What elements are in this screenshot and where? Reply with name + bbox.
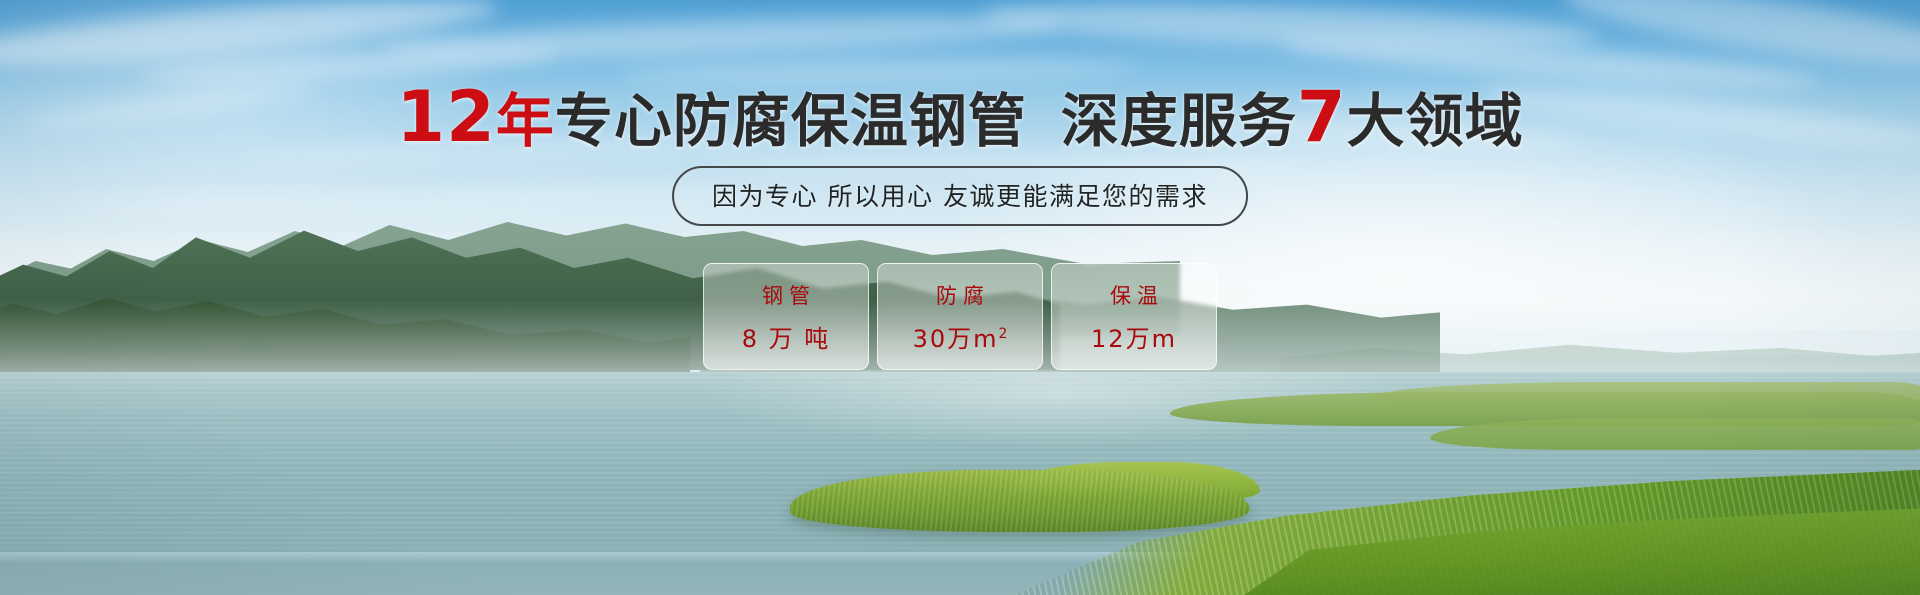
- stat-value: 12万m: [1091, 319, 1177, 354]
- headline: 12年专心防腐保温钢管深度服务7大领域: [0, 80, 1920, 156]
- headline-service-text: 深度服务: [1061, 87, 1297, 155]
- stat-label: 钢管: [756, 280, 816, 310]
- stat-card-steel-pipe: 钢管 8 万 吨: [703, 263, 869, 370]
- banner-content: 12年专心防腐保温钢管深度服务7大领域 因为专心 所以用心 友诚更能满足您的需求…: [0, 0, 1920, 595]
- stat-value-text: 8 万 吨: [742, 325, 831, 353]
- stat-label: 防腐: [930, 280, 990, 310]
- subtitle-text: 因为专心 所以用心 友诚更能满足您的需求: [712, 177, 1208, 213]
- headline-years-unit: 年: [496, 87, 555, 155]
- stat-label: 保温: [1104, 280, 1164, 310]
- stat-value-text: 30万m: [913, 325, 999, 353]
- headline-main-text: 专心防腐保温钢管: [555, 87, 1027, 155]
- stat-value-text: 12万m: [1091, 325, 1177, 353]
- stat-card-anticorrosion: 防腐 30万m2: [877, 263, 1043, 370]
- stat-card-insulation: 保温 12万m: [1051, 263, 1217, 370]
- subtitle-pill: 因为专心 所以用心 友诚更能满足您的需求: [672, 166, 1248, 226]
- stat-value: 30万m2: [913, 319, 1008, 354]
- headline-fields-text: 大领域: [1347, 87, 1524, 155]
- stat-value-superscript: 2: [999, 326, 1008, 342]
- headline-fields-number: 7: [1297, 76, 1347, 158]
- headline-years-number: 12: [396, 76, 495, 158]
- promo-banner: 12年专心防腐保温钢管深度服务7大领域 因为专心 所以用心 友诚更能满足您的需求…: [0, 0, 1920, 595]
- stat-value: 8 万 吨: [742, 319, 831, 354]
- stats-row: 钢管 8 万 吨 防腐 30万m2 保温 12万m: [703, 263, 1217, 370]
